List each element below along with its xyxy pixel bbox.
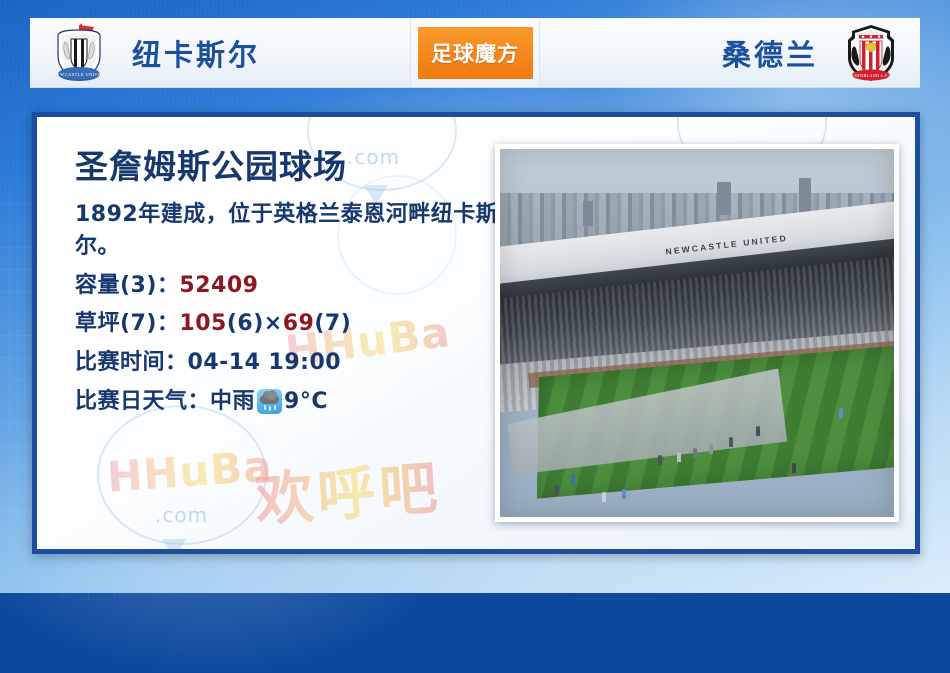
match-time-label: 比赛时间： (75, 348, 188, 378)
rain-cloud-icon (257, 389, 282, 414)
capacity-row: 容量(3)： 52409 (75, 271, 505, 301)
match-weather-label: 比赛日天气： (75, 387, 210, 417)
stadium-details: 圣詹姆斯公园球场 1892年建成，位于英格兰泰恩河畔纽卡斯尔。 容量(3)： 5… (75, 149, 505, 417)
home-team-name: 纽卡斯尔 (132, 32, 260, 74)
sunderland-afc-crest-icon: SUNDERLAND A.F.C. (840, 22, 902, 84)
site-brand-section: 足球魔方 (410, 18, 540, 88)
stadium-info-panel: .com .com HHuBa HHuBa .com 欢呼吧 圣詹姆斯公园球场 … (32, 112, 920, 554)
away-team-name: 桑德兰 (722, 32, 818, 74)
watermark-hhuba-bottom: HHuBa (105, 441, 274, 501)
stadium-description: 1892年建成，位于英格兰泰恩河畔纽卡斯尔。 (75, 199, 505, 261)
match-weather-condition: 中雨 (210, 387, 255, 417)
newcastle-united-crest-icon: NEWCASTLE UNITED (48, 22, 110, 84)
pitch-width-rank: (7) (314, 309, 351, 339)
stadium-title: 圣詹姆斯公园球场 (75, 149, 505, 185)
svg-text:SUNDERLAND A.F.C.: SUNDERLAND A.F.C. (849, 74, 892, 78)
match-time-value: 04-14 19:00 (188, 348, 342, 378)
site-brand-logo[interactable]: 足球魔方 (418, 27, 533, 79)
watermark-bubble-bottom-left (97, 405, 267, 545)
watermark-huanhuba: 欢呼吧 (252, 441, 443, 538)
pitch-length-value: 105 (179, 309, 226, 339)
st-james-park-stadium-photo: NEWCASTLE UNITED (495, 144, 899, 522)
watermark-com-bottom: .com (155, 503, 208, 527)
pitch-length-rank: (6) (227, 309, 264, 339)
svg-text:NEWCASTLE UNITED: NEWCASTLE UNITED (53, 72, 104, 77)
capacity-value: 52409 (179, 271, 258, 301)
match-weather-row: 比赛日天气： 中雨 9°C (75, 387, 505, 417)
match-temperature: 9°C (284, 387, 328, 417)
pitch-width-value: 69 (283, 309, 315, 339)
pitch-size-row: 草坪(7)： 105 (6) × 69 (7) (75, 309, 505, 339)
match-time-row: 比赛时间： 04-14 19:00 (75, 348, 505, 378)
match-header-bar: NEWCASTLE UNITED 纽卡斯尔 足球魔方 桑德兰 (30, 18, 920, 88)
site-brand-label: 足球魔方 (431, 38, 519, 68)
away-team-section: 桑德兰 SUNDERLAND A.F.C. (540, 18, 920, 88)
pitch-dimension-separator: × (264, 309, 283, 339)
capacity-label: 容量(3)： (75, 271, 179, 301)
home-team-section: NEWCASTLE UNITED 纽卡斯尔 (30, 18, 410, 88)
pitch-label: 草坪(7)： (75, 309, 179, 339)
